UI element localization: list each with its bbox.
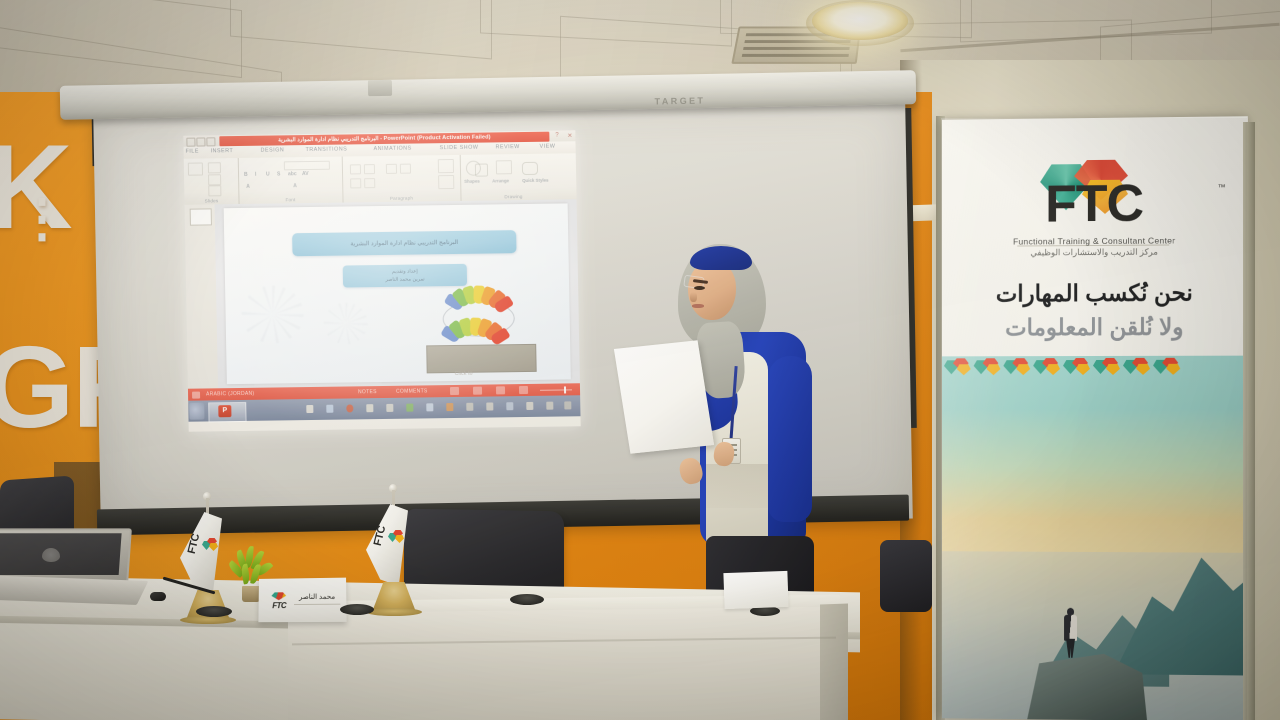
ftc-logo-mini xyxy=(388,530,405,546)
face xyxy=(688,262,736,320)
zoom-slider-handle[interactable] xyxy=(564,386,566,393)
name-card-logo: FTC xyxy=(266,592,292,610)
banner-slogan-line-2: ولا نُلقن المعلومات xyxy=(942,313,1248,341)
tab-slide-show[interactable]: SLIDE SHOW xyxy=(440,145,479,152)
notify-icon[interactable] xyxy=(526,402,533,410)
cable-puck-2 xyxy=(510,594,544,605)
screenshot-icon[interactable] xyxy=(506,402,513,410)
ftc-rollup-banner: FTC ™ Functional Training & Consultant C… xyxy=(942,116,1248,720)
hijab-band xyxy=(690,246,752,270)
name-card-ftc-text: FTC xyxy=(266,601,292,610)
underline-icon[interactable]: U xyxy=(266,172,270,178)
shadow-icon[interactable]: abc xyxy=(288,171,297,177)
shapes-label: Shapes xyxy=(464,179,480,184)
pin-icon[interactable] xyxy=(564,401,571,409)
current-slide[interactable]: البرنامج التدريبي نظام ادارة الموارد الب… xyxy=(224,203,571,384)
puzzle-fan-bottom xyxy=(453,318,499,341)
reading-view-button[interactable] xyxy=(496,386,505,394)
banner-slogan-line-1: نحن نُكسب المهارات xyxy=(942,279,1248,307)
desk-flag-right: FTC xyxy=(362,490,426,610)
cable-puck xyxy=(340,604,374,615)
plant-pot xyxy=(242,586,260,602)
record-icon[interactable] xyxy=(346,404,353,412)
ribbon-group-slides[interactable]: Slides xyxy=(184,158,240,205)
numbering-icon[interactable] xyxy=(364,164,375,174)
banner-photograph xyxy=(942,356,1248,720)
paper-sheet xyxy=(614,340,714,453)
laptop[interactable] xyxy=(0,528,142,624)
tab-insert[interactable]: INSERT xyxy=(211,148,234,154)
app-icon[interactable] xyxy=(466,403,473,411)
keyboard-layout-icon[interactable] xyxy=(306,405,313,413)
powerpoint-icon[interactable]: P xyxy=(218,405,231,417)
slide-thumbnail-pane[interactable] xyxy=(185,204,219,388)
start-button[interactable] xyxy=(189,402,204,419)
speaker-icon[interactable] xyxy=(426,403,433,411)
slide-sorter-view-button[interactable] xyxy=(473,387,482,395)
slideshow-view-button[interactable] xyxy=(519,386,528,394)
help-icon[interactable]: ? xyxy=(555,133,558,139)
notes-button[interactable]: NOTES xyxy=(358,389,377,395)
app-icon-2[interactable] xyxy=(486,402,493,410)
save-icon[interactable] xyxy=(186,138,195,147)
presentation-room-photo: K ⋮ GR TARGET البرنامج التدريبي نظام ادا… xyxy=(0,0,1280,720)
slide-image-placeholder[interactable] xyxy=(426,344,537,374)
reset-icon[interactable] xyxy=(208,174,221,185)
align-left-icon[interactable] xyxy=(350,178,361,188)
laptop-logo xyxy=(42,548,60,562)
undo-icon[interactable] xyxy=(196,137,205,146)
italic-icon[interactable]: I xyxy=(255,172,257,178)
section-icon[interactable] xyxy=(208,185,221,196)
name-card: FTC محمد الناصر xyxy=(258,578,346,623)
convert-smartart-icon[interactable] xyxy=(438,175,454,189)
podium-side-panel xyxy=(820,604,848,720)
tab-design[interactable]: DESIGN xyxy=(261,147,285,153)
decorative-burst-icon xyxy=(241,285,304,344)
microphone-base xyxy=(196,606,232,617)
windows-taskbar[interactable]: P xyxy=(188,395,580,421)
slide-title-textbox[interactable]: البرنامج التدريبي نظام ادارة الموارد الب… xyxy=(292,230,516,256)
name-card-name: محمد الناصر xyxy=(294,593,340,601)
shield-icon[interactable] xyxy=(446,403,453,411)
bold-icon[interactable]: B xyxy=(244,172,248,178)
banner-right-edge xyxy=(1243,122,1255,720)
microphone xyxy=(150,578,226,620)
redo-icon[interactable] xyxy=(206,137,215,146)
tab-animations[interactable]: ANIMATIONS xyxy=(374,146,412,153)
placeholder-hint-text: Click to xyxy=(455,371,473,377)
tab-file[interactable]: FILE xyxy=(186,149,199,155)
puzzle-fan-top xyxy=(456,288,502,311)
ribbon-group-label: Slides xyxy=(184,198,238,204)
tab-view[interactable]: VIEW xyxy=(540,144,556,150)
presenter xyxy=(640,236,830,620)
network-icon[interactable] xyxy=(326,405,333,413)
font-name-box[interactable] xyxy=(284,161,330,171)
quick-styles-icon[interactable] xyxy=(522,162,538,175)
battery-icon[interactable] xyxy=(386,404,393,412)
photo-glare xyxy=(942,356,1248,720)
tab-review[interactable]: REVIEW xyxy=(496,144,520,150)
ftc-logo-mini xyxy=(202,538,219,554)
lips xyxy=(692,304,704,308)
font-color-icon[interactable]: A xyxy=(246,184,250,190)
ftc-wordmark: FTC xyxy=(942,177,1248,232)
flag-base-plate xyxy=(366,608,422,616)
align-center-icon[interactable] xyxy=(364,178,375,188)
name-card-underline xyxy=(294,604,340,606)
comments-button[interactable]: COMMENTS xyxy=(396,388,428,394)
screen-brand-label: TARGET xyxy=(640,95,720,107)
slide-counter-icon xyxy=(192,392,200,399)
nose xyxy=(690,292,697,302)
strikethrough-icon[interactable]: S xyxy=(277,171,280,177)
microphone-stem xyxy=(163,577,216,595)
volume-icon[interactable] xyxy=(406,404,413,412)
blazer-sleeve xyxy=(768,356,812,522)
normal-view-button[interactable] xyxy=(450,387,459,395)
change-case-icon[interactable]: A xyxy=(293,183,297,189)
shapes-icon-2[interactable] xyxy=(475,164,488,177)
eye xyxy=(694,286,705,290)
bullets-icon[interactable] xyxy=(350,164,361,174)
lang-icon[interactable] xyxy=(366,404,373,412)
paper-on-podium xyxy=(723,571,788,609)
char-spacing-icon[interactable]: AV xyxy=(302,171,309,177)
new-slide-icon[interactable] xyxy=(188,162,203,175)
wall-letter-dots: ⋮ xyxy=(16,212,66,226)
layout-icon[interactable] xyxy=(208,162,221,173)
text-direction-icon[interactable] xyxy=(438,159,454,173)
tab-transitions[interactable]: TRANSITIONS xyxy=(306,146,348,153)
quick-styles-label: Quick Styles xyxy=(522,178,548,183)
powerpoint-ribbon[interactable]: Slides B I U S abc AV A A Font xyxy=(184,153,577,205)
chair-right xyxy=(880,540,932,612)
ftc-tagline-arabic: مركز التدريب والاستشارات الوظيفي xyxy=(942,246,1248,259)
language-indicator[interactable]: ARABIC (JORDAN) xyxy=(206,391,255,398)
trademark-symbol: ™ xyxy=(1218,183,1226,192)
ribbon-group-drawing[interactable]: Shapes Arrange Quick Styles Drawing xyxy=(460,153,567,200)
decorative-burst-icon-2 xyxy=(323,302,368,345)
microphone-head xyxy=(150,592,166,601)
podium xyxy=(288,607,840,720)
ribbon-group-font[interactable]: B I U S abc AV A A Font xyxy=(238,157,344,204)
slide-canvas[interactable]: البرنامج التدريبي نظام ادارة الموارد الب… xyxy=(215,199,580,388)
arrange-label: Arrange xyxy=(492,178,509,183)
projected-powerpoint-window[interactable]: البرنامج التدريبي نظام ادارة الموارد الب… xyxy=(183,130,580,431)
zoom-slider[interactable] xyxy=(540,389,572,391)
close-icon[interactable]: ✕ xyxy=(567,132,572,139)
slide-subtitle-textbox[interactable]: إعداد وتقديم تمرين محمد الناصر xyxy=(343,264,467,288)
decrease-indent-icon[interactable] xyxy=(386,164,397,174)
sync-icon[interactable] xyxy=(546,402,553,410)
slide-thumbnail[interactable] xyxy=(190,208,212,225)
subtitle-line-2: تمرين محمد الناصر xyxy=(385,275,425,284)
ribbon-group-paragraph[interactable]: Paragraph xyxy=(342,155,462,203)
increase-indent-icon[interactable] xyxy=(400,164,411,174)
screen-housing-bracket xyxy=(368,80,392,96)
blouse-shading xyxy=(706,464,768,508)
laptop-base xyxy=(0,575,148,605)
puzzle-circle-graphic[interactable] xyxy=(430,288,525,345)
ftc-tagline-english: Functional Training & Consultant Center xyxy=(942,235,1248,247)
arrange-icon[interactable] xyxy=(496,160,512,174)
